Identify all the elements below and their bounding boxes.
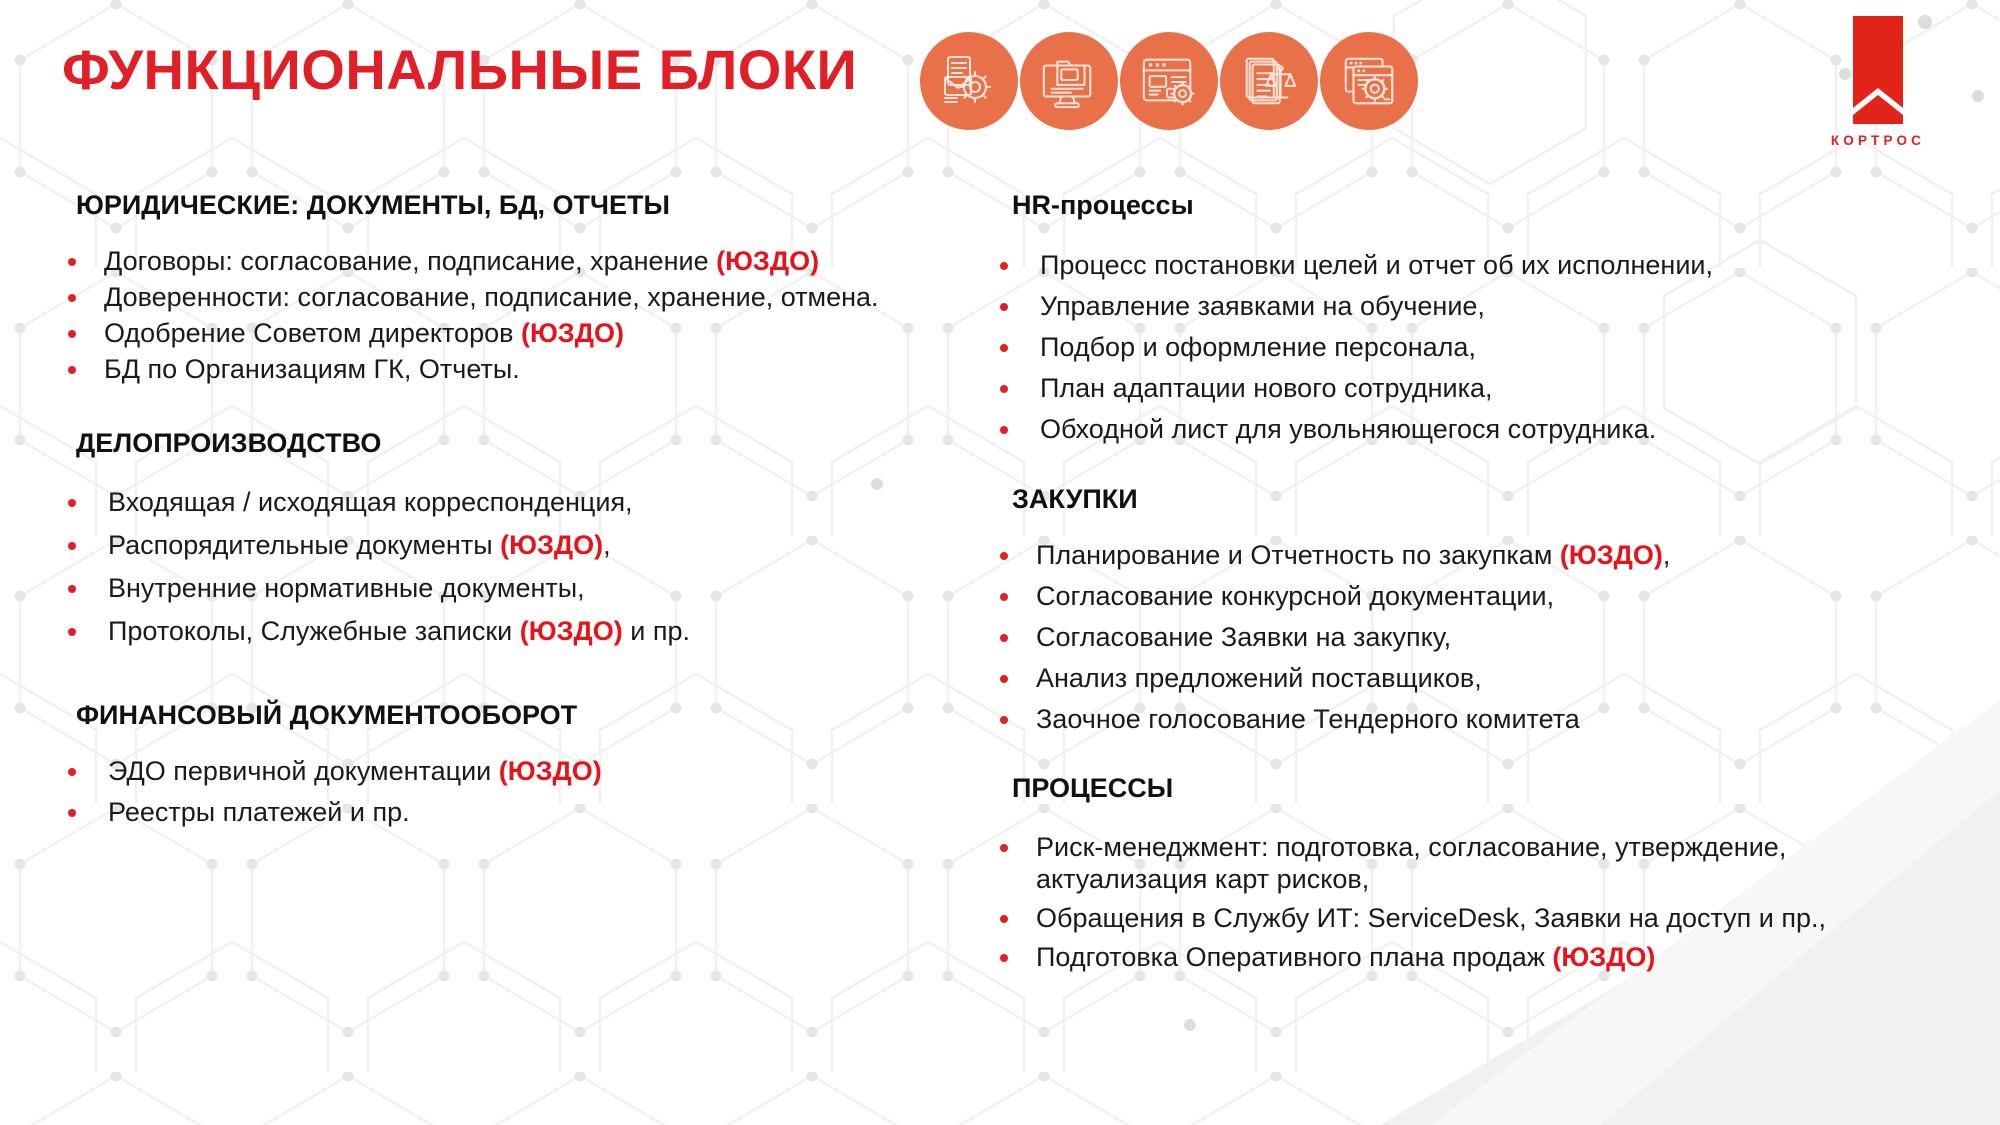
bullet-item: Распорядительные документы (ЮЗДО), (58, 529, 938, 562)
bullet-list: Входящая / исходящая корреспонденция,Рас… (58, 486, 938, 648)
section-legal: ЮРИДИЧЕСКИЕ: ДОКУМЕНТЫ, БД, ОТЧЕТЫ Догов… (58, 190, 938, 386)
logo-wordmark: КОРТРОС (1808, 133, 1948, 148)
bullet-item: Согласование конкурсной документации, (990, 580, 1950, 613)
page-title: ФУНКЦИОНАЛЬНЫЕ БЛОКИ (62, 42, 857, 98)
bullet-item: Доверенности: согласование, подписание, … (58, 281, 938, 314)
kortros-logo: КОРТРОС (1808, 16, 1948, 148)
bullet-text: Подбор и оформление персонала, (1040, 332, 1476, 362)
section-heading: ЮРИДИЧЕСКИЕ: ДОКУМЕНТЫ, БД, ОТЧЕТЫ (58, 190, 938, 221)
section-heading: ПРОЦЕССЫ (990, 773, 1950, 804)
bullet-item: Реестры платежей и пр. (58, 796, 938, 829)
highlight-tag: (ЮЗДО) (716, 246, 819, 276)
browser-gear-icon (1120, 32, 1218, 130)
bullet-item: Одобрение Советом директоров (ЮЗДО) (58, 317, 938, 350)
bullet-item: Договоры: согласование, подписание, хран… (58, 245, 938, 278)
logo-mark-icon (1851, 16, 1905, 124)
highlight-tag: (ЮЗДО) (1560, 540, 1663, 570)
section-heading: ДЕЛОПРОИЗВОДСТВО (58, 428, 938, 459)
highlight-tag: (ЮЗДО) (500, 530, 603, 560)
right-column: HR-процессы Процесс постановки целей и о… (990, 190, 1950, 980)
bullet-text: Подготовка Оперативного плана продаж (1036, 942, 1552, 972)
bullet-text: Внутренние нормативные документы, (108, 573, 585, 603)
bullet-item: Обходной лист для увольняющегося сотрудн… (990, 413, 1950, 446)
bullet-list: Процесс постановки целей и отчет об их и… (990, 249, 1950, 446)
bullet-text: , (1663, 540, 1671, 570)
bullet-text: и пр. (623, 616, 690, 646)
bullet-item: Внутренние нормативные документы, (58, 572, 938, 605)
bullet-text: Распорядительные документы (108, 530, 500, 560)
highlight-tag: (ЮЗДО) (499, 756, 602, 786)
bullet-text: Протоколы, Служебные записки (108, 616, 520, 646)
bullet-item: Управление заявками на обучение, (990, 290, 1950, 323)
bullet-list: ЭДО первичной документации (ЮЗДО)Реестры… (58, 755, 938, 829)
slide-root: ФУНКЦИОНАЛЬНЫЕ БЛОКИ (0, 0, 2000, 1125)
bullet-item: Анализ предложений поставщиков, (990, 662, 1950, 695)
highlight-tag: (ЮЗДО) (520, 616, 623, 646)
bullet-text: , (603, 530, 611, 560)
bullet-item: Протоколы, Служебные записки (ЮЗДО) и пр… (58, 615, 938, 648)
bullet-text: План адаптации нового сотрудника, (1040, 373, 1493, 403)
section-heading: HR-процессы (990, 190, 1950, 221)
header-icon-strip (920, 32, 1418, 130)
bullet-text: Обходной лист для увольняющегося сотрудн… (1040, 414, 1656, 444)
bullet-item: Входящая / исходящая корреспонденция, (58, 486, 938, 519)
bullet-item: Планирование и Отчетность по закупкам (Ю… (990, 539, 1950, 572)
bullet-text: Управление заявками на обучение, (1040, 291, 1485, 321)
bullet-list: Планирование и Отчетность по закупкам (Ю… (990, 539, 1950, 736)
bullet-text: Планирование и Отчетность по закупкам (1036, 540, 1560, 570)
bullet-item: Подготовка Оперативного плана продаж (ЮЗ… (990, 941, 1950, 974)
bullet-item: Согласование Заявки на закупку, (990, 621, 1950, 654)
bullet-item: Обращения в Службу ИТ: ServiceDesk, Заяв… (990, 902, 1950, 935)
bullet-text: Договоры: согласование, подписание, хран… (104, 246, 716, 276)
bullet-item: Процесс постановки целей и отчет об их и… (990, 249, 1950, 282)
bullet-text: Реестры платежей и пр. (108, 797, 410, 827)
bullet-text: Доверенности: согласование, подписание, … (104, 282, 879, 312)
bullet-text: Входящая / исходящая корреспонденция, (108, 487, 633, 517)
bullet-text: Анализ предложений поставщиков, (1036, 663, 1482, 693)
bullet-item: Заочное голосование Тендерного комитета (990, 703, 1950, 736)
bullet-item: План адаптации нового сотрудника, (990, 372, 1950, 405)
highlight-tag: (ЮЗДО) (521, 318, 624, 348)
bullet-item: ЭДО первичной документации (ЮЗДО) (58, 755, 938, 788)
section-financial-workflow: ФИНАНСОВЫЙ ДОКУМЕНТООБОРОТ ЭДО первичной… (58, 700, 938, 829)
bullet-list: Договоры: согласование, подписание, хран… (58, 245, 938, 386)
bullet-item: Риск-менеджмент: подготовка, согласовани… (990, 831, 1950, 897)
bullet-text: Процесс постановки целей и отчет об их и… (1040, 250, 1713, 280)
section-heading: ФИНАНСОВЫЙ ДОКУМЕНТООБОРОТ (58, 700, 938, 731)
documents-scales-icon (1220, 32, 1318, 130)
bullet-text: ЭДО первичной документации (108, 756, 499, 786)
highlight-tag: (ЮЗДО) (1552, 942, 1655, 972)
left-column: ЮРИДИЧЕСКИЕ: ДОКУМЕНТЫ, БД, ОТЧЕТЫ Догов… (58, 190, 938, 837)
bullet-list: Риск-менеджмент: подготовка, согласовани… (990, 831, 1950, 975)
content-columns: ЮРИДИЧЕСКИЕ: ДОКУМЕНТЫ, БД, ОТЧЕТЫ Догов… (0, 190, 2000, 1125)
document-envelope-gear-icon (920, 32, 1018, 130)
section-processes: ПРОЦЕССЫ Риск-менеджмент: подготовка, со… (990, 773, 1950, 974)
bullet-text: Согласование Заявки на закупку, (1036, 622, 1451, 652)
section-hr-processes: HR-процессы Процесс постановки целей и о… (990, 190, 1950, 446)
section-procurement: ЗАКУПКИ Планирование и Отчетность по зак… (990, 484, 1950, 736)
bullet-item: БД по Организациям ГК, Отчеты. (58, 353, 938, 386)
monitor-folder-icon (1020, 32, 1118, 130)
windows-gear-icon (1320, 32, 1418, 130)
bullet-item: Подбор и оформление персонала, (990, 331, 1950, 364)
section-records-management: ДЕЛОПРОИЗВОДСТВО Входящая / исходящая ко… (58, 428, 938, 648)
bullet-text: Согласование конкурсной документации, (1036, 581, 1554, 611)
section-heading: ЗАКУПКИ (990, 484, 1950, 515)
bullet-text: Обращения в Службу ИТ: ServiceDesk, Заяв… (1036, 903, 1826, 933)
slide-header: ФУНКЦИОНАЛЬНЫЕ БЛОКИ (0, 0, 2000, 190)
bullet-text: БД по Организациям ГК, Отчеты. (104, 354, 520, 384)
bullet-text: Заочное голосование Тендерного комитета (1036, 704, 1580, 734)
bullet-text: Одобрение Советом директоров (104, 318, 521, 348)
bullet-text: Риск-менеджмент: подготовка, согласовани… (1036, 832, 1786, 895)
